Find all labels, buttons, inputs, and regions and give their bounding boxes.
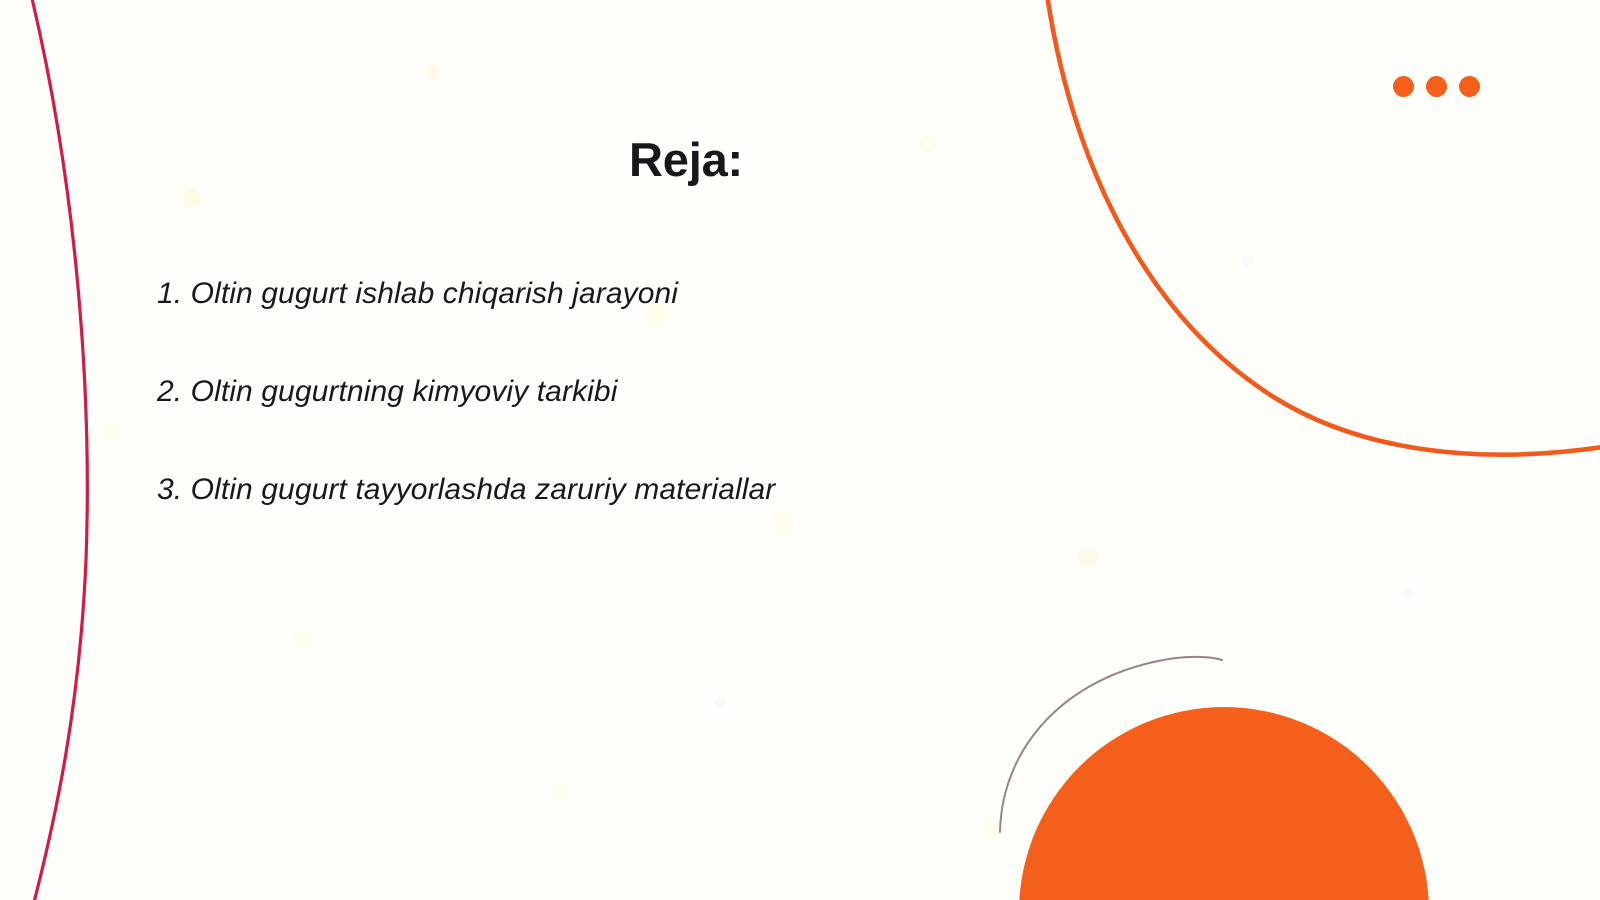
dots-decoration [1393,76,1480,97]
list-item: 3. Oltin gugurt tayyorlashda zaruriy mat… [157,468,1057,512]
orange-arc-top-right [1046,0,1600,455]
plan-list: 1. Oltin gugurt ishlab chiqarish jarayon… [157,272,1057,512]
orange-circle-bottom-right [1019,707,1429,900]
dot-icon [1393,76,1414,97]
list-item: 1. Oltin gugurt ishlab chiqarish jarayon… [157,272,1057,316]
list-item: 2. Oltin gugurtning kimyoviy tarkibi [157,370,1057,414]
dot-icon [1459,76,1480,97]
dot-icon [1426,76,1447,97]
presentation-slide: Reja: 1. Oltin gugurt ishlab chiqarish j… [0,0,1600,900]
page-title: Reja: [0,132,1372,187]
